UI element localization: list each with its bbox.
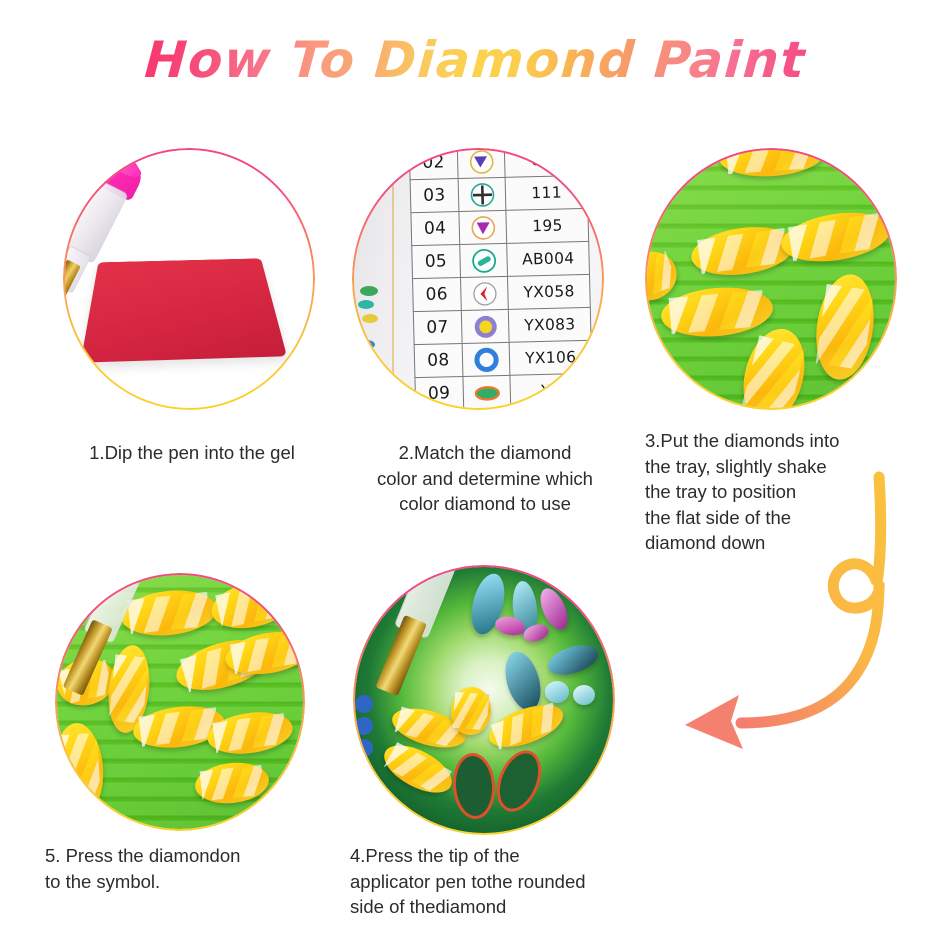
chart-row-index: 02 xyxy=(409,150,457,180)
leaf-oval-icon xyxy=(474,380,500,406)
pink-gel-pad xyxy=(80,258,286,362)
step-4-caption: 4.Press the tip of the applicator pen to… xyxy=(350,843,640,920)
pen-placing-diamond-on-canvas xyxy=(355,567,613,833)
canvas-gem-aqua xyxy=(573,685,595,705)
diamond-gem xyxy=(810,271,880,384)
chart-row-symbol-cell xyxy=(460,276,508,310)
table-row: 09YX xyxy=(415,373,593,408)
page-header: How To Diamond Paint xyxy=(0,26,950,104)
chart-row-symbol-cell xyxy=(457,150,505,179)
chart-row-symbol-cell xyxy=(461,309,509,343)
chevron-left-icon xyxy=(472,281,498,307)
chart-row-code: YX xyxy=(510,373,592,408)
printed-petal-green xyxy=(488,744,549,818)
diamond-gem xyxy=(688,221,797,281)
chart-row-index: 09 xyxy=(415,376,463,408)
table-row: 03111 xyxy=(410,175,588,212)
pen-picking-up-diamond-from-tray xyxy=(57,575,303,829)
chart-row-symbol-cell xyxy=(462,342,510,376)
pen-dipping-into-pink-gel-pad xyxy=(65,150,313,408)
triangle-down-icon xyxy=(470,215,496,241)
chart-row-code: YX083 xyxy=(509,307,591,342)
printed-petal-green xyxy=(451,752,498,821)
scrap-teal xyxy=(358,300,374,309)
canvas-gem-darkteal xyxy=(544,640,601,681)
table-body: 02095031110419505AB00406YX05807YX08308YX… xyxy=(409,150,592,408)
ring-donut-icon xyxy=(473,347,499,373)
chart-side-color-scraps xyxy=(356,286,390,376)
triangle-filled-icon xyxy=(468,150,494,174)
chart-row-index: 07 xyxy=(413,310,461,344)
chart-row-symbol-cell xyxy=(459,210,507,244)
chart-row-index: 08 xyxy=(414,343,462,377)
step-2-photo-circle: 02095031110419505AB00406YX05807YX08308YX… xyxy=(352,148,604,410)
chart-row-code: YX058 xyxy=(508,274,590,309)
chart-row-symbol-cell xyxy=(459,243,507,277)
color-symbol-table: 02095031110419505AB00406YX05807YX08308YX… xyxy=(409,150,593,408)
diamond-gem xyxy=(734,322,814,408)
table-row: 07YX083 xyxy=(413,307,591,344)
diamond-gem xyxy=(207,575,296,635)
chart-row-index: 04 xyxy=(411,212,459,246)
table-row: 05AB004 xyxy=(412,241,590,278)
chart-row-symbol-cell xyxy=(458,177,506,211)
scrap-blue xyxy=(359,340,375,349)
chart-row-index: 06 xyxy=(413,277,461,311)
canvas-gem-aqua xyxy=(545,681,569,703)
page-title: How To Diamond Paint xyxy=(142,26,807,94)
chart-row-index: 03 xyxy=(410,179,458,213)
diamond-gem xyxy=(193,759,271,807)
diamond-gem xyxy=(778,206,894,269)
curved-loop-arrow-pointing-left xyxy=(655,455,950,780)
chart-row-index: 05 xyxy=(412,245,460,279)
step-1-caption: 1.Dip the pen into the gel xyxy=(62,440,322,466)
yellow-diamonds-in-green-tray xyxy=(647,150,895,408)
scrap-teal-2 xyxy=(361,356,378,366)
table-row: 04195 xyxy=(411,208,589,245)
filled-dot-icon xyxy=(472,314,498,340)
color-symbol-chart-closeup: 02095031110419505AB00406YX05807YX08308YX… xyxy=(354,150,602,408)
table-row: 08YX106 xyxy=(414,340,592,377)
chart-row-code: 111 xyxy=(505,175,587,210)
step-4-photo-circle xyxy=(353,565,615,835)
arrow-curve xyxy=(741,477,881,723)
diamond-gem xyxy=(659,283,775,341)
step-3-photo-circle xyxy=(645,148,897,410)
table-row: 06YX058 xyxy=(413,274,591,311)
step-5-caption: 5. Press the diamondon to the symbol. xyxy=(45,843,345,894)
step-2-caption: 2.Match the diamond color and determine … xyxy=(360,440,610,517)
diamond-gem xyxy=(222,626,303,681)
chart-row-code: YX106 xyxy=(509,340,591,375)
scrap-green xyxy=(360,286,378,296)
plus-cross-icon xyxy=(469,182,495,208)
canvas-left-edge-line xyxy=(392,150,394,408)
arrow-head xyxy=(685,695,743,749)
chart-row-code: 195 xyxy=(506,208,588,243)
step-5-photo-circle xyxy=(55,573,305,831)
chart-row-symbol-cell xyxy=(463,375,511,408)
diamond-gem xyxy=(57,721,106,816)
green-grooved-tray xyxy=(647,150,895,408)
step-1-photo-circle xyxy=(63,148,315,410)
diagonal-bar-icon xyxy=(471,248,497,274)
chart-row-code: AB004 xyxy=(507,241,589,276)
diamond-gem xyxy=(718,150,827,180)
chart-row-code: 095 xyxy=(505,150,587,177)
scrap-yellow xyxy=(362,314,378,323)
